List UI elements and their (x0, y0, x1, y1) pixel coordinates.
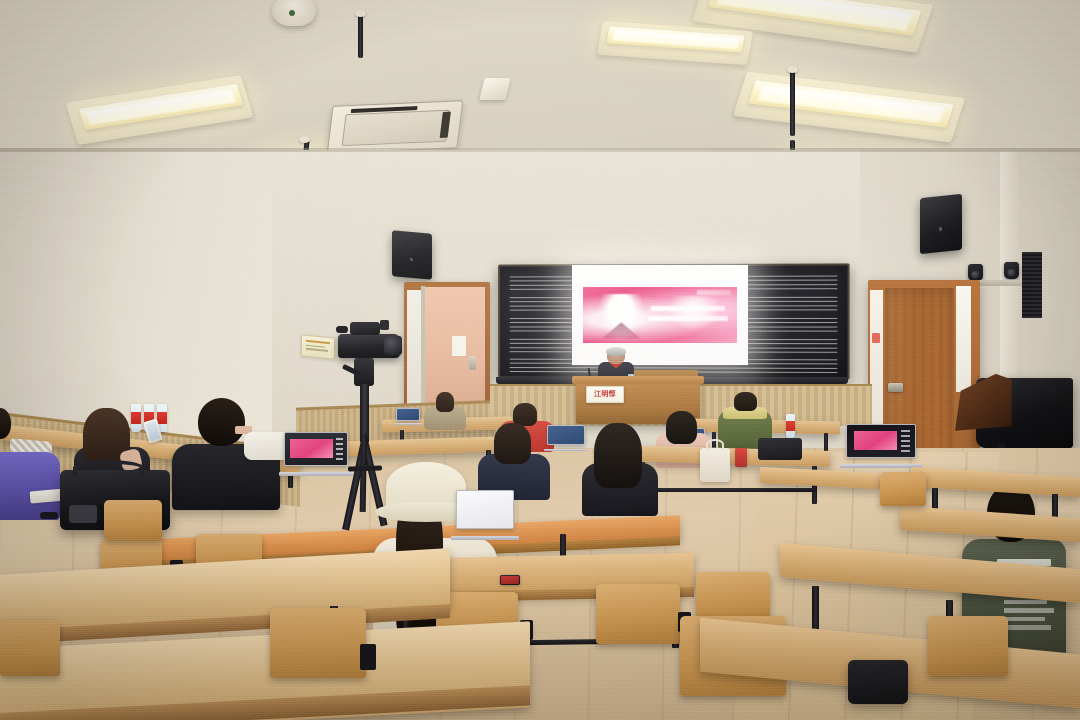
laptop[interactable] (456, 490, 514, 540)
slide-ribbon-graphic (666, 296, 722, 331)
laptop-content (548, 426, 584, 444)
bottle-label (786, 421, 795, 431)
ceiling-projector-mount (479, 78, 510, 100)
laptop-base (279, 472, 353, 476)
smartphone-on-desk[interactable] (500, 575, 520, 585)
podium-top (572, 376, 703, 383)
laptop-base (840, 464, 921, 468)
water-bottle (786, 414, 795, 438)
laptop-content-slide (854, 431, 898, 449)
laptop-ui-panel (336, 438, 343, 461)
bag-pocket (69, 505, 98, 523)
chair[interactable] (880, 472, 926, 506)
laptop-screen (456, 490, 514, 529)
person-hair (734, 392, 757, 411)
ptz-camera-icon (1004, 262, 1019, 279)
tripod-leg (360, 434, 367, 512)
person-head (198, 398, 246, 446)
audience-member (424, 392, 466, 430)
ceiling-rod-mount (787, 66, 798, 73)
laptop[interactable] (846, 424, 916, 468)
camera-lens-icon (384, 336, 402, 355)
desk-brace (640, 488, 816, 492)
chair-back (880, 472, 926, 506)
ceiling-rod-mount (355, 10, 366, 17)
phone-case (501, 576, 519, 583)
presentation-slide (583, 287, 738, 343)
av-mixer-device (758, 438, 802, 460)
chair-back (270, 608, 366, 678)
ac-vent (440, 112, 451, 138)
chair[interactable] (928, 616, 1008, 676)
person-hair (594, 423, 642, 488)
jacket-print-line (1006, 625, 1052, 629)
remote-control (40, 512, 58, 519)
person-body (0, 452, 60, 520)
door-handle-icon[interactable] (469, 356, 477, 371)
slide-heading-line-2 (648, 316, 729, 321)
chair[interactable] (270, 608, 366, 678)
wall-speaker-far-right-icon (1022, 252, 1042, 318)
chair-mount (360, 644, 376, 670)
person-hair (494, 423, 531, 464)
ptz-camera-icon (968, 264, 983, 281)
laptop-ui-panel (901, 430, 911, 453)
ceiling-hanging-rod (358, 14, 363, 58)
person-hair (666, 411, 697, 444)
exit-sign-icon (872, 333, 880, 343)
wall-speaker-icon (920, 194, 962, 254)
chair[interactable] (596, 584, 680, 644)
nameplate-text: 江明惇 (594, 391, 616, 398)
lecture-hall-photograph: 学习贯彻十大精神 (0, 0, 1080, 720)
camera-microphone-icon (336, 326, 348, 333)
jacket-print-line (1004, 608, 1054, 612)
ceiling-rod-mount (299, 136, 310, 143)
chair[interactable] (0, 620, 60, 676)
wall-speaker-icon (392, 230, 432, 279)
slide-portrait-graphic (598, 294, 644, 339)
laptop-content-slide (290, 439, 333, 458)
piano-lid (955, 374, 1012, 431)
door-handle-icon[interactable] (888, 383, 903, 393)
laptop-screen (284, 432, 348, 466)
camera-accessory (380, 320, 389, 330)
nameplate: 江明惇 (586, 386, 624, 403)
laptop-screen (846, 424, 916, 458)
floor-bag (848, 660, 908, 704)
air-conditioner-cassette (327, 100, 464, 154)
slide-heading-line-1 (651, 306, 725, 311)
laptop[interactable] (284, 432, 348, 476)
chair[interactable] (104, 500, 162, 540)
chair-back (104, 500, 162, 540)
smoke-detector-icon (272, 0, 316, 26)
slide-badge (697, 290, 731, 294)
laptop-base (451, 536, 518, 541)
ceiling-hanging-rod (790, 70, 795, 136)
person-hair (436, 392, 454, 412)
chair-back (928, 616, 1008, 676)
bag-handle (73, 460, 143, 476)
bottle-label (157, 412, 167, 423)
lecturer-hair (606, 347, 626, 356)
camera-viewfinder (350, 322, 380, 335)
red-cup (735, 448, 747, 467)
chair-back (0, 620, 60, 676)
phone-screen (145, 421, 160, 441)
audience-member (580, 428, 660, 516)
tote-bag (700, 448, 730, 482)
jacket-print-line (1004, 600, 1048, 604)
chair-back (596, 584, 680, 644)
jacket-print-line (1006, 617, 1046, 621)
audience-member (0, 428, 60, 520)
ceiling-wall-joint (0, 148, 1080, 152)
person-hair (513, 403, 537, 426)
tote-handle (706, 439, 724, 450)
